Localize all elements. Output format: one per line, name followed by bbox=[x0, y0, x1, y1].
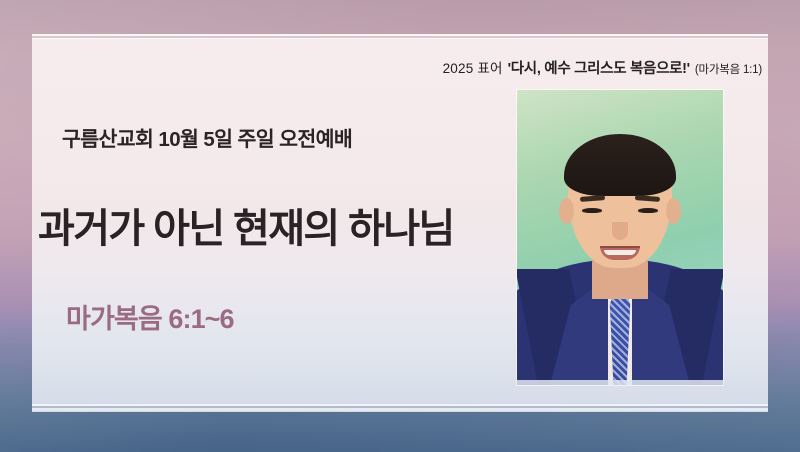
year-theme-slogan: '다시, 예수 그리스도 복음으로!' bbox=[508, 57, 690, 78]
panel-bottom-bevel-line bbox=[32, 408, 768, 411]
panel-top-bevel-line bbox=[32, 38, 768, 39]
photo-bottom-trim bbox=[517, 380, 723, 385]
year-theme-reference: (마가복음 1:1) bbox=[695, 61, 762, 77]
scripture-reference: 마가복음 6:1~6 bbox=[66, 297, 234, 336]
ear-left bbox=[559, 198, 574, 224]
sermon-title-slide: 2025 표어 '다시, 예수 그리스도 복음으로!' (마가복음 1:1) 구… bbox=[0, 0, 800, 452]
ear-right bbox=[666, 198, 681, 224]
nose-shape bbox=[612, 222, 628, 240]
year-theme-label: 2025 표어 bbox=[443, 57, 503, 77]
eye-right bbox=[638, 208, 658, 213]
year-theme-line: 2025 표어 '다시, 예수 그리스도 복음으로!' (마가복음 1:1) bbox=[443, 57, 762, 78]
eye-left bbox=[582, 208, 602, 213]
sermon-title: 과거가 아닌 현재의 하나님 bbox=[38, 196, 454, 254]
preacher-portrait-photo bbox=[517, 90, 723, 385]
service-subtitle: 구름산교회 10월 5일 주일 오전예배 bbox=[62, 122, 352, 152]
